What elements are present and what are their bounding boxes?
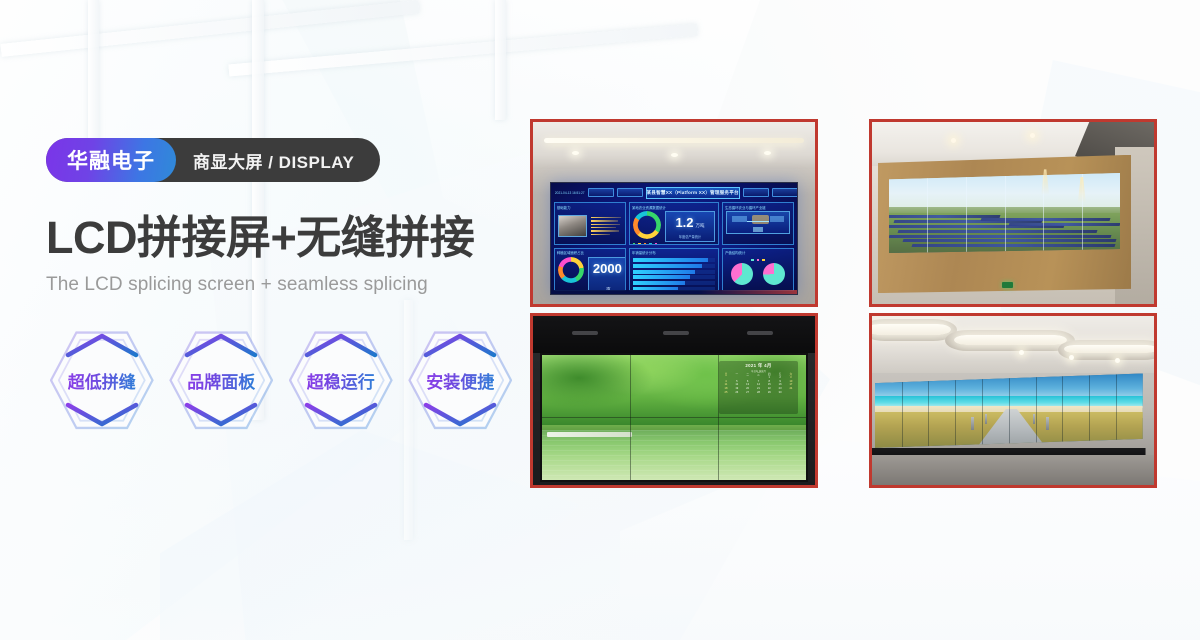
background-beam-vertical [495,0,506,120]
page-title: LCD拼接屏+无缝拼接 [46,214,516,261]
dashboard-card: 种植区域面积占比 2000亩 种植总面积 [554,248,626,291]
pie-chart [763,263,785,285]
chevron-down-icon [423,402,497,428]
feature-hexagon-list: 超低拼缝 品牌面板 [46,324,516,436]
calendar-day: 24 [786,388,796,391]
donut-chart [558,257,584,283]
kpi-value: 2000 [593,261,622,276]
calendar-day: 25 [721,392,731,395]
bar-chart [633,257,715,291]
dashboard-card: 某地农业资源数据统计 1.2万吨 年度总产量统计 [629,202,719,245]
chevron-up-icon [65,332,139,358]
dashboard-tab[interactable] [588,188,614,197]
dashboard-card: 基础能力 [554,202,626,245]
dashboard-card: 年销量统计分布 [629,248,719,291]
videowall-screen [875,373,1143,447]
feature-hexagon: 安装便捷 [405,324,517,436]
kpi-value: 1.2 [675,215,693,230]
calendar-day: 29 [764,392,774,395]
dashboard-card-title: 产值结构统计 [725,250,745,255]
calendar-day: 26 [732,392,742,395]
dashboard-thumbnail [558,215,587,237]
dashboard-statusbar [551,290,797,294]
dashboard-card-title: 生态循环农业与循环产业链 [725,205,766,210]
page-subtitle: The LCD splicing screen + seamless splic… [46,274,516,296]
donut-chart [633,211,661,239]
fence-rail [547,432,631,437]
videowall-screen: 2021 年 4月 辛丑年 庚寅月 日 一 二 三 四 五 六 12345678… [540,353,808,481]
feature-label: 超低拼缝 [68,368,136,393]
product-photo-beach-boardwalk-wall [869,313,1157,488]
chevron-down-icon [65,402,139,428]
dashboard-timestamp: 2021-04-13 16:51:27 [554,191,585,195]
background-beam-vertical [88,0,99,160]
badge-category-label: 商显大屏 / DISPLAY [176,138,376,182]
dashboard-tab[interactable] [772,188,798,197]
feature-hexagon: 超稳运行 [285,324,397,436]
pie-chart-group [726,263,790,285]
dashboard-card-title: 基础能力 [557,205,571,210]
videowall-screen: 2021-04-13 16:51:27 某县智慧XX（Platform XX）管… [550,182,798,295]
chevron-up-icon [304,332,378,358]
dashboard-card-title: 年销量统计分布 [632,250,656,255]
calendar-day: 27 [743,392,753,395]
feature-label: 超稳运行 [307,368,375,393]
chevron-down-icon [304,402,378,428]
feature-label: 品牌面板 [187,368,255,393]
dashboard-card: 产值结构统计 [722,248,794,291]
videowall-screen [889,173,1120,253]
dashboard-title: 某县智慧XX（Platform XX）管理服务平台 [646,187,740,199]
calendar-day: 30 [775,392,785,395]
feature-label: 安装便捷 [426,368,494,393]
dashboard-card-title: 某地农业资源数据统计 [632,205,666,210]
dashboard-tab[interactable] [743,188,769,197]
product-photo-control-room: 2021-04-13 16:51:27 某县智慧XX（Platform XX）管… [530,119,818,307]
chevron-up-icon [423,332,497,358]
product-photo-willow-lake-wall: 2021 年 4月 辛丑年 庚寅月 日 一 二 三 四 五 六 12345678… [530,313,818,488]
feature-hexagon: 超低拼缝 [46,324,158,436]
dashboard-tab[interactable] [617,188,643,197]
product-photo-solar-farm-wall [869,119,1157,307]
brand-badge-group: 华融电子 商显大屏 / DISPLAY [46,138,376,182]
dashboard-card: 生态循环农业与循环产业链 [722,202,794,245]
calendar-day [786,392,796,395]
dashboard-card-grid: 基础能力 [554,202,794,291]
calendar-day: 28 [753,392,763,395]
chevron-down-icon [184,402,258,428]
feature-hexagon: 品牌面板 [166,324,278,436]
calendar-day-grid: 1234567891011121314151617181920212223242… [721,377,796,394]
brand-badge: 华融电子 [46,138,176,182]
kpi-unit: 万吨 [696,223,705,228]
kpi-caption: 年度总产量统计 [670,234,710,239]
dashboard-ui: 2021-04-13 16:51:27 某县智慧XX（Platform XX）管… [551,183,797,294]
dashboard-header: 2021-04-13 16:51:27 某县智慧XX（Platform XX）管… [554,186,794,199]
promo-banner: 华融电子 商显大屏 / DISPLAY LCD拼接屏+无缝拼接 The LCD … [0,0,1200,640]
calendar-widget: 2021 年 4月 辛丑年 庚寅月 日 一 二 三 四 五 六 12345678… [719,361,798,413]
chevron-up-icon [184,332,258,358]
pie-chart [731,263,753,285]
hero-content: 华融电子 商显大屏 / DISPLAY LCD拼接屏+无缝拼接 The LCD … [46,138,516,436]
dashboard-card-title: 种植区域面积占比 [557,250,584,255]
exit-sign-icon [1002,282,1013,288]
